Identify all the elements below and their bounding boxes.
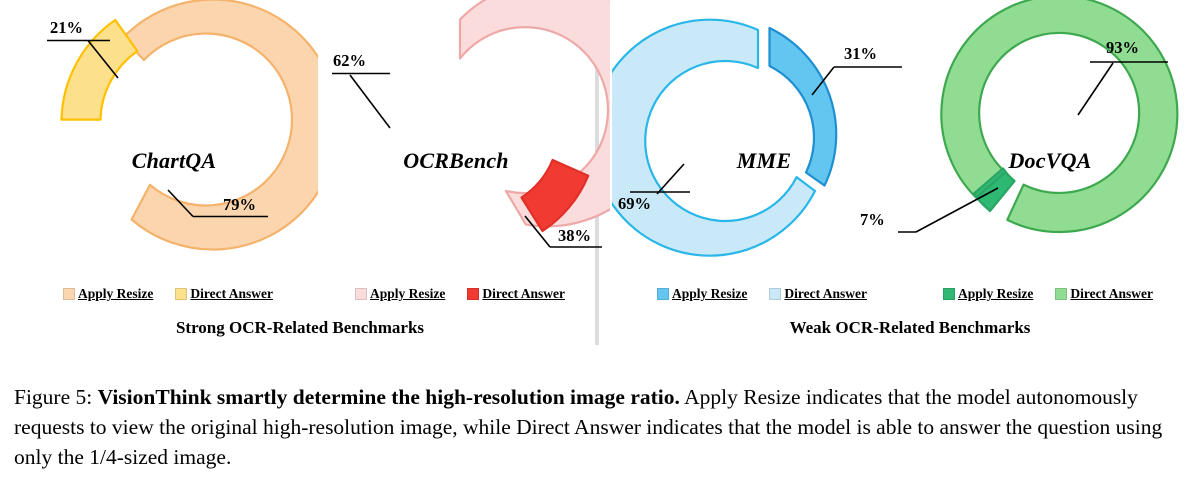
pct-label-direct-answer-ocrbench: 38% <box>558 226 591 246</box>
donut-svg-mme <box>612 0 912 285</box>
donut-graphic-mme: MME 31% 69% <box>612 0 912 285</box>
legend-ocrbench: Apply Resize Direct Answer <box>310 286 610 302</box>
legend-label-apply-resize: Apply Resize <box>78 286 153 302</box>
legend-swatch-direct-answer-icon <box>175 288 187 300</box>
pct-label-apply-resize-ocrbench: 62% <box>333 51 366 71</box>
donut-graphic-ocrbench: OCRBench 62% 38% <box>310 0 610 285</box>
legend-swatch-apply-resize-icon <box>943 288 955 300</box>
pct-label-apply-resize-mme: 31% <box>844 44 877 64</box>
legend-chartqa: Apply Resize Direct Answer <box>18 286 318 302</box>
donut-chart-chartqa: ChartQA 21% 79% Apply Resize Direct Answ… <box>18 0 318 360</box>
donut-slice-apply-resize <box>770 28 837 186</box>
pct-label-apply-resize-chartqa: 79% <box>223 195 256 215</box>
section-title-strong-ocr: Strong OCR-Related Benchmarks <box>60 318 540 338</box>
pct-label-direct-answer-chartqa: 21% <box>50 18 83 38</box>
caption-prefix: Figure 5: <box>14 385 92 409</box>
pct-label-direct-answer-docvqa: 93% <box>1106 38 1139 58</box>
caption-bold: VisionThink smartly determine the high-r… <box>98 385 680 409</box>
legend-item-direct-answer[interactable]: Direct Answer <box>467 286 565 302</box>
pct-label-apply-resize-docvqa: 7% <box>860 210 885 230</box>
legend-item-apply-resize[interactable]: Apply Resize <box>355 286 445 302</box>
legend-mme: Apply Resize Direct Answer <box>612 286 912 302</box>
legend-label-direct-answer: Direct Answer <box>784 286 867 302</box>
legend-item-direct-answer[interactable]: Direct Answer <box>1055 286 1153 302</box>
legend-label-apply-resize: Apply Resize <box>370 286 445 302</box>
legend-swatch-direct-answer-icon <box>1055 288 1067 300</box>
legend-swatch-apply-resize-icon <box>657 288 669 300</box>
legend-item-apply-resize[interactable]: Apply Resize <box>63 286 153 302</box>
donut-chart-ocrbench: OCRBench 62% 38% Apply Resize Direct Ans… <box>310 0 610 360</box>
legend-swatch-direct-answer-icon <box>769 288 781 300</box>
legend-item-direct-answer[interactable]: Direct Answer <box>769 286 867 302</box>
legend-label-apply-resize: Apply Resize <box>958 286 1033 302</box>
legend-label-direct-answer: Direct Answer <box>1070 286 1153 302</box>
legend-swatch-direct-answer-icon <box>467 288 479 300</box>
legend-label-direct-answer: Direct Answer <box>190 286 273 302</box>
legend-swatch-apply-resize-icon <box>355 288 367 300</box>
legend-item-apply-resize[interactable]: Apply Resize <box>657 286 747 302</box>
donut-chart-docvqa: DocVQA 93% 7% Apply Resize Direct Answer <box>898 0 1198 360</box>
legend-item-direct-answer[interactable]: Direct Answer <box>175 286 273 302</box>
donut-graphic-docvqa: DocVQA 93% 7% <box>898 0 1198 285</box>
legend-swatch-apply-resize-icon <box>63 288 75 300</box>
donut-svg-docvqa <box>898 0 1198 285</box>
pct-label-direct-answer-mme: 69% <box>618 194 651 214</box>
figure-caption: Figure 5: VisionThink smartly determine … <box>14 382 1194 472</box>
charts-area: ChartQA 21% 79% Apply Resize Direct Answ… <box>0 0 1204 360</box>
legend-docvqa: Apply Resize Direct Answer <box>898 286 1198 302</box>
donut-chart-mme: MME 31% 69% Apply Resize Direct Answer <box>612 0 912 360</box>
section-title-weak-ocr: Weak OCR-Related Benchmarks <box>660 318 1160 338</box>
donut-svg-chartqa <box>18 0 318 285</box>
donut-graphic-chartqa: ChartQA 21% 79% <box>18 0 318 285</box>
legend-label-apply-resize: Apply Resize <box>672 286 747 302</box>
legend-label-direct-answer: Direct Answer <box>482 286 565 302</box>
legend-item-apply-resize[interactable]: Apply Resize <box>943 286 1033 302</box>
donut-slice-apply-resize <box>123 0 318 250</box>
